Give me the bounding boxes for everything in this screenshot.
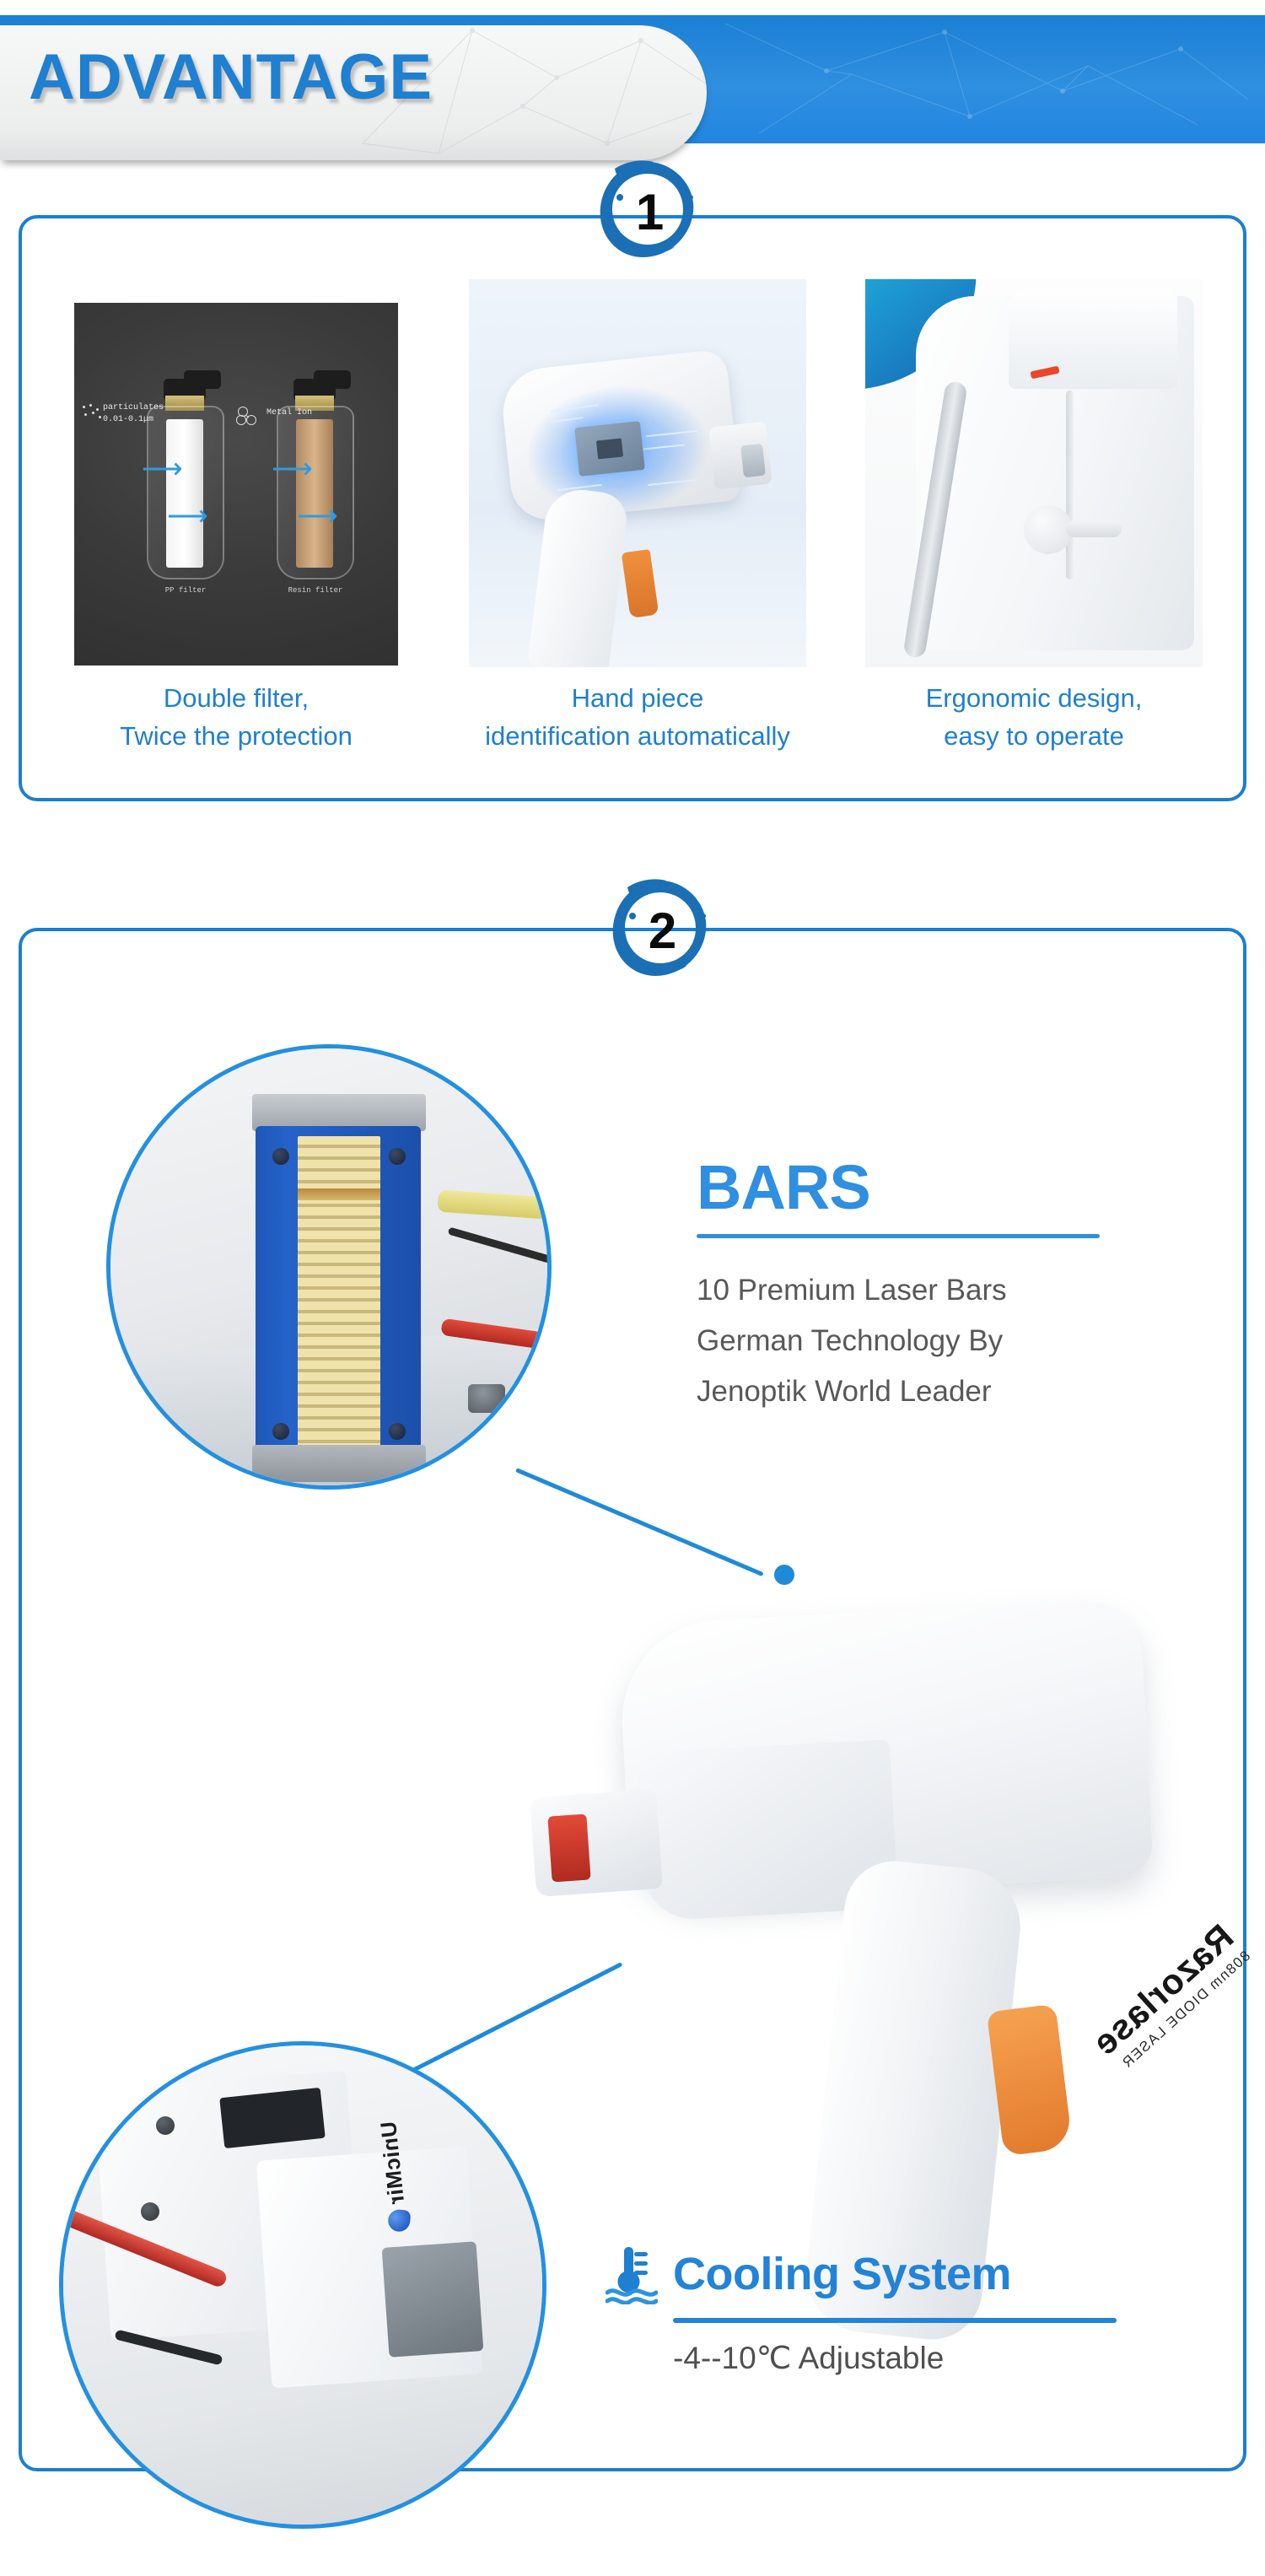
pp-filter-label: PP filter — [147, 586, 224, 595]
bars-underline — [697, 1234, 1100, 1238]
caption-ergonomic: Ergonomic design, easy to operate — [865, 679, 1203, 756]
metal-ion-tag: Metal Ion — [266, 407, 312, 419]
badge-two: 2 — [609, 877, 712, 980]
sapphire-window — [382, 2241, 484, 2357]
resin-filter-label: Resin filter — [277, 586, 354, 595]
caption-handpiece-id: Hand piece identification automatically — [469, 679, 806, 756]
leader-dot-bars — [774, 1565, 794, 1585]
badge-one-number: 1 — [596, 159, 699, 261]
cooling-system-block: Cooling System -4--10℃ Adjustable — [606, 2244, 1145, 2376]
sapphire-tip-photo: UnicMir — [59, 2041, 546, 2529]
feature-cell-double-filter: ⟶ ⟶ PP filter ⟶ ⟶ Resin filter — [74, 279, 398, 756]
badge-two-number: 2 — [609, 877, 712, 980]
bars-text-block: BARS 10 Premium Laser Bars German Techno… — [697, 1157, 1135, 1417]
laser-bar-stack — [298, 1136, 380, 1453]
cooling-underline — [673, 2318, 1117, 2323]
particulates-tag: particulates 0.01-0.1μm — [103, 402, 164, 425]
badge-one: 1 — [596, 159, 699, 261]
handpiece-chip-photo — [469, 279, 806, 667]
bars-line-1: 10 Premium Laser Bars — [697, 1265, 1135, 1316]
laser-bars-photo — [106, 1044, 552, 1490]
particulate-dots-icon — [81, 404, 103, 421]
feature-cell-ergonomic: Ergonomic design, easy to operate — [865, 279, 1203, 756]
handpiece-trigger — [987, 2004, 1073, 2157]
handpiece-emitter-window — [547, 1813, 590, 1882]
page-title: ADVANTAGE — [29, 40, 433, 114]
chip-icon — [574, 421, 645, 477]
coolant-temperature-icon — [606, 2244, 658, 2304]
bars-line-2: German Technology By — [697, 1316, 1135, 1366]
advantage-page: ADVANTAGE 1 ⟶ ⟶ — [0, 0, 1265, 2576]
bars-body: 10 Premium Laser Bars German Technology … — [697, 1265, 1135, 1418]
metal-ion-icon — [236, 406, 261, 426]
page-title-tab: ADVANTAGE — [0, 25, 707, 160]
caption-double-filter: Double filter, Twice the protection — [74, 679, 398, 756]
feature-cell-handpiece-id: Hand piece identification automatically — [469, 279, 806, 756]
cooling-system-subtitle: -4--10℃ Adjustable — [673, 2340, 1145, 2376]
ergonomic-photo — [865, 279, 1203, 667]
double-filter-photo: ⟶ ⟶ PP filter ⟶ ⟶ Resin filter — [74, 279, 398, 667]
bars-line-3: Jenoptik World Leader — [697, 1366, 1135, 1417]
bars-title: BARS — [697, 1157, 1135, 1219]
tip-brand-droplet-icon — [386, 2208, 411, 2233]
handpiece-brand-logo: Razorlase 808nm DIODE LASER — [1085, 1916, 1254, 2078]
cooling-system-title: Cooling System — [673, 2248, 1011, 2300]
section-one-panel: ⟶ ⟶ PP filter ⟶ ⟶ Resin filter — [19, 215, 1246, 801]
